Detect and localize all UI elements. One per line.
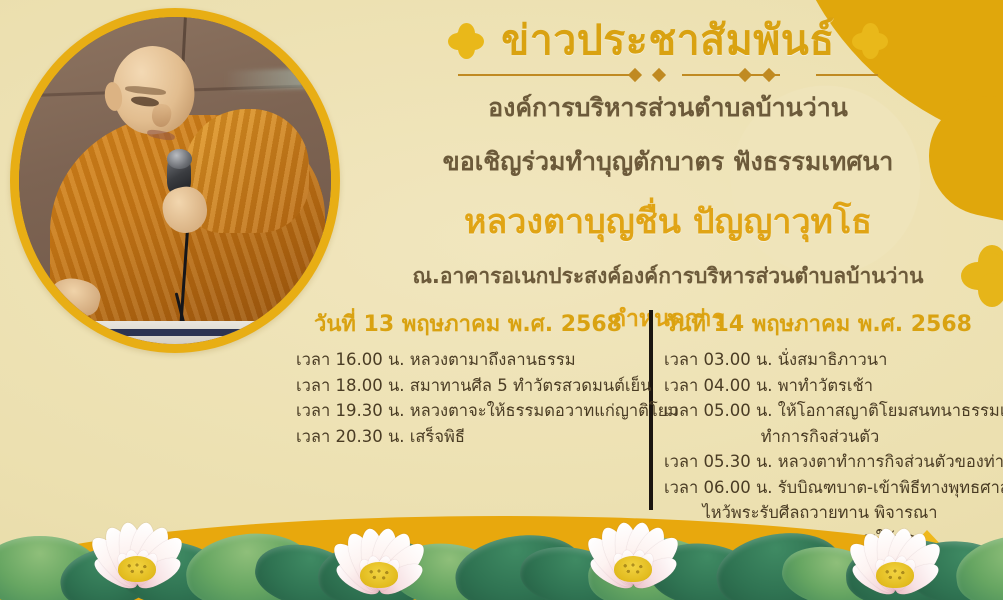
invitation-line: ขอเชิญร่วมทำบุญตักบาตร ฟังธรรมเทศนา <box>348 142 988 182</box>
day1-title: วันที่ 13 พฤษภาคม พ.ศ. 2568 <box>296 306 632 341</box>
monk-photo <box>19 17 331 344</box>
list-item: เวลา 05.00 น. ให้โอกาสญาติโยมสนทนาธรรมแล… <box>664 398 976 424</box>
list-item: เวลา 05.30 น. หลวงตาทำการกิจส่วนตัวของท่… <box>664 449 976 475</box>
lotus-flower-icon <box>574 504 692 590</box>
title-divider-ornament <box>458 68 878 82</box>
poster-canvas: ข่าวประชาสัมพันธ์ องค์การบริหารส่วนตำบลบ… <box>0 0 1003 600</box>
list-item: เวลา 16.00 น. หลวงตามาถึงลานธรรม <box>296 347 632 373</box>
day2-title: วันที่ 14 พฤษภาคม พ.ศ. 2568 <box>664 306 976 341</box>
monk-name: หลวงตาบุญชื่น ปัญญาวุทโธ <box>348 194 988 248</box>
lotus-flower-icon <box>836 510 954 596</box>
lotus-border-decoration <box>0 488 1003 600</box>
poster-header: ข่าวประชาสัมพันธ์ องค์การบริหารส่วนตำบลบ… <box>348 18 988 337</box>
day1-item-list: เวลา 16.00 น. หลวงตามาถึงลานธรรม เวลา 18… <box>296 347 632 449</box>
list-item: เวลา 20.30 น. เสร็จพิธี <box>296 424 632 450</box>
lotus-seed-pod <box>614 556 652 582</box>
monk-photo-frame <box>10 8 340 353</box>
list-item: เวลา 19.30 น. หลวงตาจะให้ธรรมดอวาทแก่ญาต… <box>296 398 632 424</box>
lotus-seed-pod <box>876 562 914 588</box>
lotus-seed-pod <box>360 562 398 588</box>
venue-line: ณ.อาคารอเนกประสงค์องค์การบริหารส่วนตำบลบ… <box>348 260 988 293</box>
quatrefoil-icon-left <box>449 24 483 58</box>
lotus-flower-icon <box>320 510 438 596</box>
organization-name: องค์การบริหารส่วนตำบลบ้านว่าน <box>348 88 988 128</box>
list-item: เวลา 03.00 น. นั่งสมาธิภาวนา <box>664 347 976 373</box>
page-title: ข่าวประชาสัมพันธ์ <box>501 18 835 64</box>
lotus-flower-icon <box>78 504 196 590</box>
list-item: เวลา 18.00 น. สมาทานศีล 5 ทำวัตรสวดมนต์เ… <box>296 373 632 399</box>
list-item: เวลา 04.00 น. พาทำวัตรเช้า <box>664 373 976 399</box>
list-item-continuation: ทำการกิจส่วนตัว <box>664 424 976 450</box>
quatrefoil-icon-edge <box>963 247 1003 305</box>
quatrefoil-icon-right <box>853 24 887 58</box>
lotus-seed-pod <box>118 556 156 582</box>
title-row: ข่าวประชาสัมพันธ์ <box>348 18 988 64</box>
